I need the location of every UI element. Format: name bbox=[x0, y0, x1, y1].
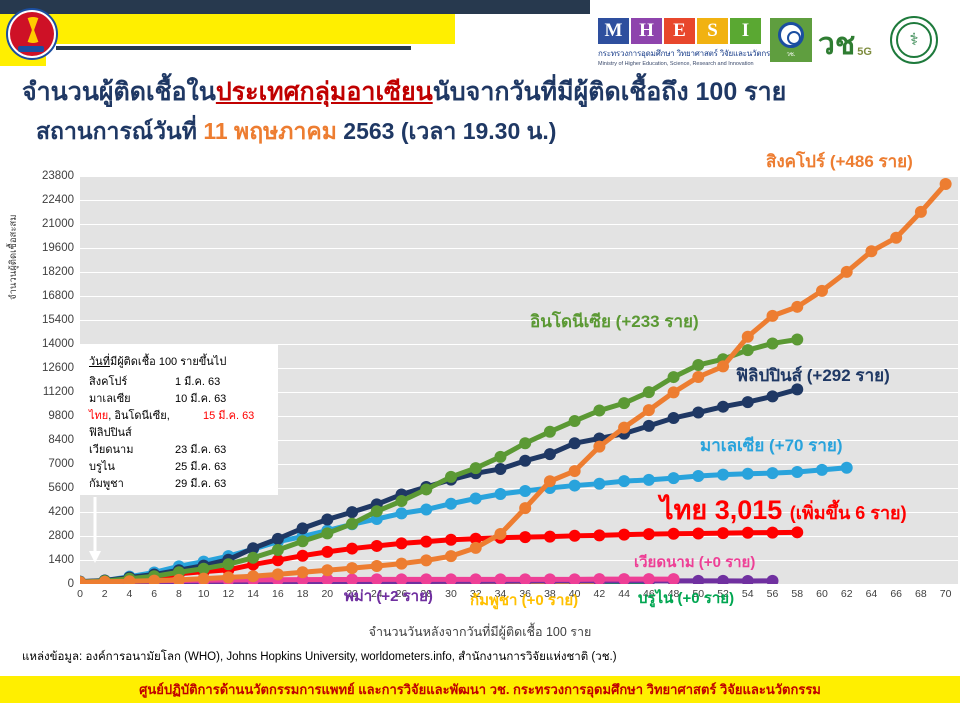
data-point-singapore bbox=[593, 441, 605, 453]
data-point-vietnam bbox=[544, 573, 556, 584]
x-tick-label: 14 bbox=[247, 588, 259, 600]
data-point-malaysia bbox=[569, 480, 581, 492]
data-point-indonesia bbox=[569, 415, 581, 427]
data-point-vietnam bbox=[346, 573, 358, 584]
legend-row: บรูไน25 มี.ค. 63 bbox=[89, 459, 269, 476]
data-point-indonesia bbox=[593, 405, 605, 417]
data-point-singapore bbox=[470, 542, 482, 554]
data-point-indonesia bbox=[420, 483, 432, 495]
x-tick-label: 12 bbox=[223, 588, 235, 600]
data-point-singapore bbox=[544, 475, 556, 487]
data-point-singapore bbox=[569, 465, 581, 477]
data-point-singapore bbox=[643, 404, 655, 416]
data-point-vietnam bbox=[668, 573, 680, 584]
legend-heading: วันที่มีผู้ติดเชื้อ 100 รายขึ้นไป bbox=[89, 352, 269, 370]
data-point-indonesia bbox=[346, 518, 358, 530]
legend-row: สิงคโปร์1 มี.ค. 63 bbox=[89, 374, 269, 391]
data-point-thailand bbox=[519, 531, 531, 543]
data-point-singapore bbox=[445, 550, 457, 562]
y-tick-label: 0 bbox=[4, 578, 74, 590]
y-tick-label: 15400 bbox=[4, 314, 74, 326]
data-point-malaysia bbox=[420, 503, 432, 515]
data-point-myanmar bbox=[692, 575, 704, 584]
data-point-malaysia bbox=[519, 485, 531, 497]
series-label-indonesia: อินโดนีเซีย (+233 ราย) bbox=[530, 308, 699, 335]
data-point-vietnam bbox=[569, 573, 581, 584]
data-point-singapore bbox=[618, 422, 630, 434]
y-tick-label: 12600 bbox=[4, 362, 74, 374]
data-point-singapore bbox=[816, 285, 828, 297]
nrct-label: วช. bbox=[786, 49, 795, 59]
data-point-vietnam bbox=[371, 573, 383, 584]
data-point-singapore bbox=[346, 562, 358, 574]
title-part-1: จำนวนผู้ติดเชื้อใน bbox=[22, 78, 216, 106]
data-point-singapore bbox=[915, 206, 927, 218]
legend-row: เวียดนาม23 มี.ค. 63 bbox=[89, 442, 269, 459]
legend-country-thailand: ไทย bbox=[89, 410, 108, 422]
mhesi-caption-english: Ministry of Higher Education, Science, R… bbox=[598, 61, 766, 67]
nrct-logo: วช. bbox=[770, 18, 812, 62]
data-point-thailand bbox=[544, 531, 556, 543]
legend-date: 15 มี.ค. 63 bbox=[203, 408, 254, 442]
data-point-singapore bbox=[272, 568, 284, 580]
legend-row: กัมพูชา29 มี.ค. 63 bbox=[89, 476, 269, 493]
data-point-myanmar bbox=[767, 575, 779, 584]
data-point-singapore bbox=[791, 301, 803, 313]
data-point-singapore bbox=[519, 502, 531, 514]
data-point-singapore bbox=[940, 178, 952, 190]
yellow-band bbox=[0, 14, 455, 44]
data-point-indonesia bbox=[396, 495, 408, 507]
legend-date-box: วันที่มีผู้ติดเชื้อ 100 รายขึ้นไป สิงคโป… bbox=[80, 345, 278, 495]
data-point-indonesia bbox=[767, 337, 779, 349]
data-point-malaysia bbox=[643, 474, 655, 486]
y-tick-label: 22400 bbox=[4, 194, 74, 206]
footer-text: ศูนย์ปฏิบัติการด้านนวัตกรรมการแพทย์ และก… bbox=[139, 679, 821, 700]
y-tick-label: 5600 bbox=[4, 482, 74, 494]
data-point-malaysia bbox=[618, 475, 630, 487]
y-tick-label: 1400 bbox=[4, 554, 74, 566]
legend-date: 25 มี.ค. 63 bbox=[175, 459, 226, 476]
caduceus-icon: ⚕ bbox=[896, 22, 932, 58]
data-point-thailand bbox=[371, 540, 383, 552]
legend-date: 10 มี.ค. 63 bbox=[175, 391, 226, 408]
data-point-vietnam bbox=[420, 573, 432, 584]
x-tick-label: 62 bbox=[841, 588, 853, 600]
data-point-singapore bbox=[80, 576, 86, 584]
x-tick-label: 68 bbox=[915, 588, 927, 600]
data-point-indonesia bbox=[668, 371, 680, 383]
data-point-thailand bbox=[396, 537, 408, 549]
data-point-malaysia bbox=[470, 493, 482, 505]
data-point-indonesia bbox=[371, 505, 383, 517]
mhesi-caption-thai: กระทรวงการอุดมศึกษา วิทยาศาสตร์ วิจัยและ… bbox=[598, 47, 766, 60]
data-point-malaysia bbox=[668, 472, 680, 484]
data-point-vietnam bbox=[643, 573, 655, 584]
legend-rows: สิงคโปร์1 มี.ค. 63มาเลเซีย10 มี.ค. 63ไทย… bbox=[89, 374, 269, 493]
page-title-line-1: จำนวนผู้ติดเชื้อในประเทศกลุ่มอาเซียนนับจ… bbox=[22, 72, 786, 112]
data-point-myanmar bbox=[717, 575, 729, 584]
gridline bbox=[80, 584, 958, 585]
data-point-singapore bbox=[767, 310, 779, 322]
legend-country-name: กัมพูชา bbox=[89, 476, 175, 493]
x-tick-label: 64 bbox=[866, 588, 878, 600]
x-tick-label: 10 bbox=[198, 588, 210, 600]
y-tick-label: 23800 bbox=[4, 170, 74, 182]
y-axis-title: จำนวนผู้ติดเชื้อสะสม bbox=[6, 215, 21, 301]
x-tick-label: 56 bbox=[767, 588, 779, 600]
data-point-indonesia bbox=[445, 471, 457, 483]
mhesi-letter-m: M bbox=[598, 18, 629, 44]
mhesi-letter-s: S bbox=[697, 18, 728, 44]
legend-heading-underlined: วันที่ bbox=[89, 356, 110, 368]
data-point-philippines bbox=[321, 513, 333, 525]
legend-heading-rest: มีผู้ติดเชื้อ 100 รายขึ้นไป bbox=[110, 356, 226, 368]
data-point-singapore bbox=[297, 566, 309, 578]
x-tick-label: 42 bbox=[594, 588, 606, 600]
y-tick-label: 14000 bbox=[4, 338, 74, 350]
y-tick-label: 11200 bbox=[4, 386, 74, 398]
data-point-thailand bbox=[420, 536, 432, 548]
data-point-thailand bbox=[643, 528, 655, 540]
navy-top-bar bbox=[0, 0, 590, 14]
y-tick-label: 7000 bbox=[4, 458, 74, 470]
data-point-thailand bbox=[297, 550, 309, 562]
vor-mark: วช bbox=[818, 30, 855, 60]
gear-icon bbox=[778, 22, 804, 48]
legend-date: 23 มี.ค. 63 bbox=[175, 442, 226, 459]
data-point-thailand bbox=[346, 543, 358, 555]
data-point-singapore bbox=[692, 371, 704, 383]
mhesi-logo: M H E S I กระทรวงการอุดมศึกษา วิทยาศาสตร… bbox=[598, 18, 766, 62]
data-point-singapore bbox=[396, 558, 408, 570]
x-tick-label: 58 bbox=[791, 588, 803, 600]
series-label-vietnam: เวียดนาม (+0 ราย) bbox=[634, 550, 755, 574]
data-point-singapore bbox=[865, 245, 877, 257]
x-tick-label: 54 bbox=[742, 588, 754, 600]
mhesi-letter-h: H bbox=[631, 18, 662, 44]
data-point-vietnam bbox=[470, 573, 482, 584]
x-axis-title: จำนวนวันหลังจากวันที่มีผู้ติดเชื้อ 100 ร… bbox=[0, 622, 960, 642]
series-label-philippines: ฟิลิปปินส์ (+292 ราย) bbox=[736, 362, 890, 389]
series-label-myanmar: พม่า (+2 ราย) bbox=[344, 584, 433, 608]
data-point-malaysia bbox=[396, 507, 408, 519]
y-tick-label: 4200 bbox=[4, 506, 74, 518]
subtitle-suffix: 2563 (เวลา 19.30 น.) bbox=[337, 118, 557, 144]
data-point-indonesia bbox=[247, 552, 259, 564]
data-point-indonesia bbox=[222, 558, 234, 570]
data-point-malaysia bbox=[692, 470, 704, 482]
y-tick-label: 8400 bbox=[4, 434, 74, 446]
data-point-malaysia bbox=[494, 488, 506, 500]
footer-bar: ศูนย์ปฏิบัติการด้านนวัตกรรมการแพทย์ และก… bbox=[0, 676, 960, 703]
data-point-malaysia bbox=[717, 469, 729, 481]
data-point-singapore bbox=[742, 331, 754, 343]
thailand-delta: (เพิ่มขึ้น 6 ราย) bbox=[790, 503, 907, 523]
data-point-thailand bbox=[272, 554, 284, 566]
data-point-malaysia bbox=[767, 467, 779, 479]
data-point-philippines bbox=[297, 522, 309, 534]
legend-country-name: สิงคโปร์ bbox=[89, 374, 175, 391]
y-tick-label: 2800 bbox=[4, 530, 74, 542]
subtitle-date: 11 พฤษภาคม bbox=[203, 118, 337, 144]
legend-country-name: มาเลเซีย bbox=[89, 391, 175, 408]
data-point-philippines bbox=[668, 412, 680, 424]
series-label-singapore: สิงคโปร์ (+486 ราย) bbox=[766, 148, 913, 175]
data-point-singapore bbox=[717, 360, 729, 372]
data-point-thailand bbox=[321, 546, 333, 558]
data-point-indonesia bbox=[321, 527, 333, 539]
legend-pointer-arrow bbox=[88, 497, 102, 565]
x-tick-label: 2 bbox=[102, 588, 108, 600]
legend-country-name: ไทย, อินโดนีเซีย, ฟิลิปปินส์ bbox=[89, 408, 203, 442]
data-point-malaysia bbox=[841, 462, 853, 474]
data-point-vietnam bbox=[618, 573, 630, 584]
legend-country-name: บรูไน bbox=[89, 459, 175, 476]
title-highlight-asean: ประเทศกลุ่มอาเซียน bbox=[216, 78, 433, 106]
data-point-malaysia bbox=[593, 478, 605, 490]
data-point-indonesia bbox=[470, 462, 482, 474]
data-point-singapore bbox=[321, 564, 333, 576]
data-point-singapore bbox=[222, 571, 234, 583]
data-point-indonesia bbox=[297, 535, 309, 547]
x-tick-label: 70 bbox=[940, 588, 952, 600]
x-tick-label: 60 bbox=[816, 588, 828, 600]
data-point-singapore bbox=[371, 560, 383, 572]
data-point-thailand bbox=[618, 529, 630, 541]
legend-country-name: เวียดนาม bbox=[89, 442, 175, 459]
data-point-philippines bbox=[544, 448, 556, 460]
data-point-indonesia bbox=[544, 426, 556, 438]
data-point-myanmar bbox=[742, 575, 754, 584]
data-point-singapore bbox=[841, 266, 853, 278]
source-line: แหล่งข้อมูล: องค์การอนามัยโลก (WHO), Joh… bbox=[22, 648, 617, 666]
series-label-malaysia: มาเลเซีย (+70 ราย) bbox=[700, 432, 843, 459]
data-point-philippines bbox=[717, 401, 729, 413]
mhesi-letter-i: I bbox=[730, 18, 761, 44]
data-point-thailand bbox=[569, 530, 581, 542]
x-tick-label: 4 bbox=[127, 588, 133, 600]
navy-divider-rule bbox=[56, 46, 411, 50]
header-band: M H E S I กระทรวงการอุดมศึกษา วิทยาศาสตร… bbox=[0, 0, 960, 66]
data-point-singapore bbox=[247, 570, 259, 582]
data-point-philippines bbox=[569, 437, 581, 449]
x-tick-label: 8 bbox=[176, 588, 182, 600]
data-point-indonesia bbox=[692, 359, 704, 371]
subtitle-prefix: สถานการณ์วันที่ bbox=[36, 118, 203, 144]
data-point-singapore bbox=[668, 386, 680, 398]
series-label-thailand: ไทย 3,015 (เพิ่มขึ้น 6 ราย) bbox=[660, 488, 907, 531]
five-g-badge: 5G bbox=[857, 46, 872, 58]
data-point-philippines bbox=[494, 463, 506, 475]
x-tick-label: 44 bbox=[618, 588, 630, 600]
data-point-indonesia bbox=[494, 451, 506, 463]
x-tick-label: 6 bbox=[151, 588, 157, 600]
moph-logo: ⚕ bbox=[890, 16, 938, 64]
data-point-indonesia bbox=[519, 437, 531, 449]
data-point-singapore bbox=[420, 554, 432, 566]
x-tick-label: 66 bbox=[890, 588, 902, 600]
data-point-singapore bbox=[890, 232, 902, 244]
data-point-vietnam bbox=[593, 573, 605, 584]
data-point-philippines bbox=[692, 407, 704, 419]
data-point-indonesia bbox=[643, 386, 655, 398]
legend-date: 1 มี.ค. 63 bbox=[175, 374, 220, 391]
x-tick-label: 0 bbox=[77, 588, 83, 600]
legend-row: ไทย, อินโดนีเซีย, ฟิลิปปินส์15 มี.ค. 63 bbox=[89, 408, 269, 442]
x-tick-label: 20 bbox=[321, 588, 333, 600]
y-tick-label: 9800 bbox=[4, 410, 74, 422]
data-point-vietnam bbox=[494, 573, 506, 584]
data-point-philippines bbox=[742, 396, 754, 408]
series-label-cambodia: กัมพูชา (+0 ราย) bbox=[470, 588, 578, 612]
data-point-malaysia bbox=[791, 466, 803, 478]
data-point-singapore bbox=[494, 528, 506, 540]
data-point-vietnam bbox=[396, 573, 408, 584]
data-point-malaysia bbox=[742, 468, 754, 480]
x-tick-label: 16 bbox=[272, 588, 284, 600]
data-point-thailand bbox=[445, 534, 457, 546]
series-label-brunei: บรูไน (+0 ราย) bbox=[638, 586, 734, 610]
vor-5g-logo: วช 5G bbox=[818, 20, 880, 60]
data-point-philippines bbox=[346, 506, 358, 518]
data-point-vietnam bbox=[519, 573, 531, 584]
title-part-2: นับจากวันที่มีผู้ติดเชื้อถึง 100 ราย bbox=[433, 78, 787, 106]
mhesi-letter-e: E bbox=[664, 18, 695, 44]
data-point-philippines bbox=[272, 533, 284, 545]
asean-logo bbox=[6, 8, 58, 60]
data-point-philippines bbox=[643, 420, 655, 432]
data-point-indonesia bbox=[742, 344, 754, 356]
data-point-malaysia bbox=[816, 464, 828, 476]
x-tick-label: 30 bbox=[445, 588, 457, 600]
data-point-malaysia bbox=[445, 498, 457, 510]
data-point-vietnam bbox=[445, 573, 457, 584]
data-point-indonesia bbox=[272, 544, 284, 556]
legend-date: 29 มี.ค. 63 bbox=[175, 476, 226, 493]
x-tick-label: 18 bbox=[297, 588, 309, 600]
data-point-indonesia bbox=[618, 397, 630, 409]
data-point-philippines bbox=[767, 390, 779, 402]
thailand-total: ไทย 3,015 bbox=[660, 495, 790, 525]
page-title-line-2: สถานการณ์วันที่ 11 พฤษภาคม 2563 (เวลา 19… bbox=[36, 114, 556, 150]
data-point-thailand bbox=[593, 529, 605, 541]
data-point-indonesia bbox=[791, 333, 803, 345]
legend-row: มาเลเซีย10 มี.ค. 63 bbox=[89, 391, 269, 408]
data-point-philippines bbox=[519, 455, 531, 467]
